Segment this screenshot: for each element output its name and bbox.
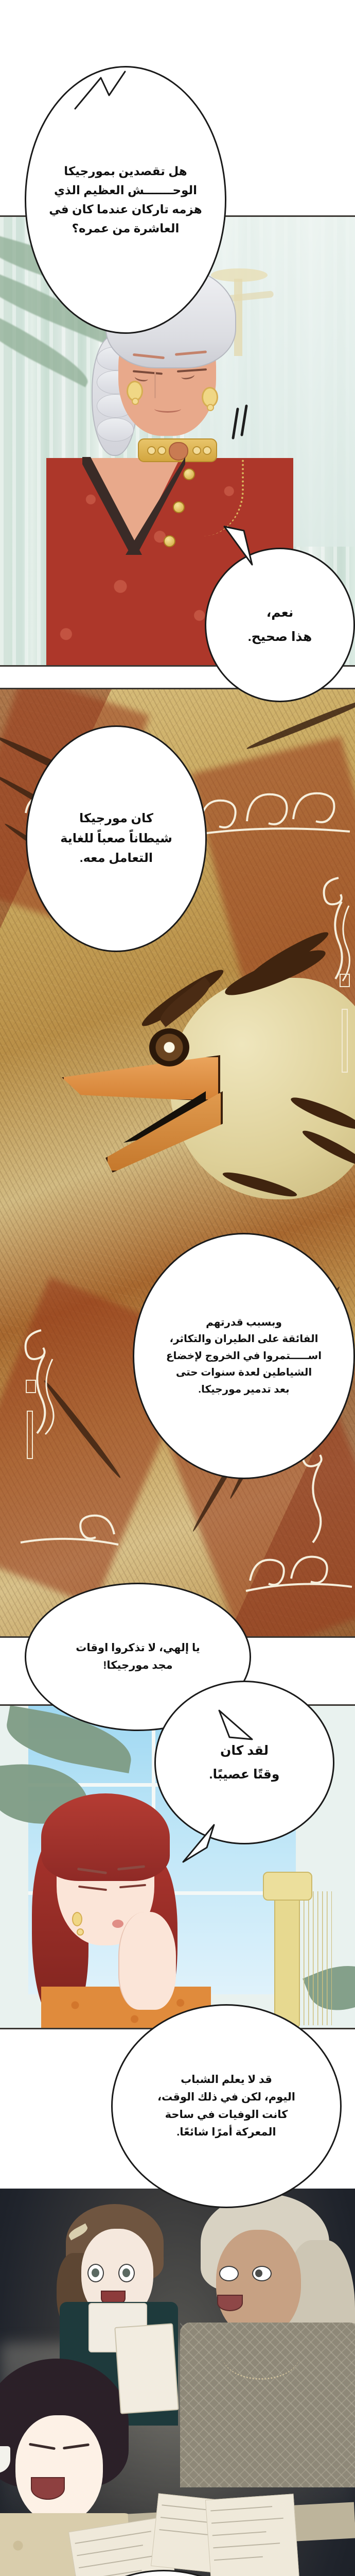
hair-red [41, 1793, 170, 1881]
balloon-confirmation-yes[interactable]: نعم، هذا صحيح. [205, 548, 355, 702]
balloon-5-tail [216, 1708, 257, 1744]
balloon-6-text: لقد كان وقتًا عصيبًا. [203, 1739, 286, 1787]
scroll-swirl-ornament [242, 1529, 355, 1599]
balloon-4-text: وبسبب قدرتهم الفائقة على الطيران والتكاث… [160, 1314, 328, 1398]
scroll-swirl-ornament [190, 761, 355, 852]
balloon-1-tail [71, 69, 133, 110]
balloon-6-tail [181, 1824, 217, 1865]
balloon-flight-and-breeding[interactable]: وبسبب قدرتهم الفائقة على الطيران والتكاث… [133, 1233, 355, 1479]
comic-page: هل تقصدين بمورجيكا الوحـــــــش العظيم ا… [0, 0, 355, 2576]
monster-upper-beak [62, 1055, 220, 1101]
balloon-morgika-was-difficult-devil[interactable]: كان مورجيكا شيطاناً صعباً للغاية التعامل… [26, 725, 207, 952]
balloon-1-text: هل تقصدين بمورجيكا الوحـــــــش العظيم ا… [43, 162, 208, 239]
noblewoman-white-hair [185, 2194, 355, 2482]
earring [72, 1912, 82, 1926]
balloon-7-text: قد لا يعلم الشباب اليوم، لكن في ذلك الوق… [151, 2071, 301, 2141]
earring-right [202, 387, 218, 408]
balloon-it-was-a-hard-time[interactable]: لقد كان وقتًا عصيبًا. [154, 1681, 334, 1844]
balloon-5-text: يا إلهي، لا تذكروا اوقات مجد مورجيكا! [69, 1639, 206, 1674]
scroll-swirl-ornament [17, 1493, 120, 1552]
harp [234, 1860, 332, 2025]
panel-dark-council [0, 2189, 355, 2576]
earring-left [127, 381, 143, 401]
document-sheet [205, 2494, 300, 2576]
balloon-2-tail [223, 527, 259, 568]
balloon-2-text: نعم، هذا صحيح. [242, 601, 318, 650]
hand-on-cheek [118, 1912, 176, 2010]
balloon-youth-today-may-not-know[interactable]: قد لا يعلم الشباب اليوم، لكن في ذلك الوق… [111, 2004, 342, 2208]
monster-eye [149, 1028, 189, 1066]
held-document [114, 2323, 179, 2414]
scroll-swirl-ornament [14, 1323, 76, 1439]
mouth [112, 1920, 123, 1928]
balloon-3-text: كان مورجيكا شيطاناً صعباً للغاية التعامل… [54, 809, 179, 869]
